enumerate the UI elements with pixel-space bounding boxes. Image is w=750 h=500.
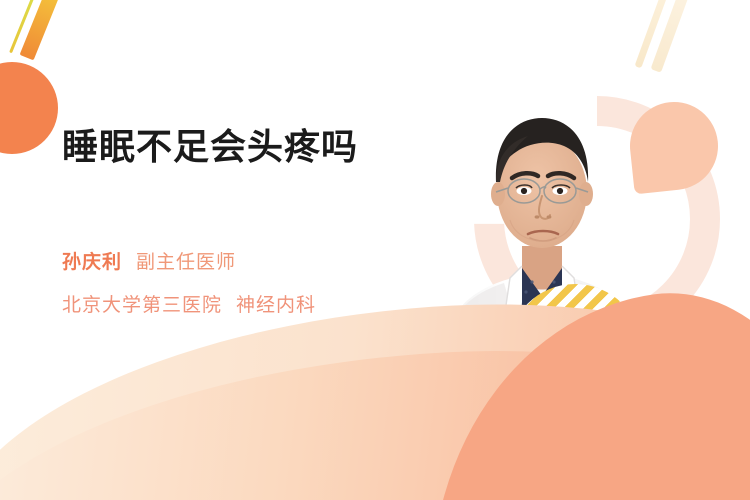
stripe-bottom-left-icon bbox=[150, 362, 172, 409]
doctor-portrait bbox=[438, 96, 653, 386]
doctor-affiliation-line: 北京大学第三医院神经内科 bbox=[62, 290, 316, 317]
orange-circle-icon bbox=[0, 62, 58, 154]
hospital-name: 北京大学第三医院 bbox=[62, 295, 222, 316]
doctor-credentials-line: 孙庆利副主任医师 bbox=[62, 247, 236, 274]
doctor-name: 孙庆利 bbox=[62, 252, 122, 273]
stripe-top-right-a-icon bbox=[634, 0, 672, 68]
department-name: 神经内科 bbox=[236, 295, 316, 316]
stripe-top-right-b-icon bbox=[651, 0, 697, 73]
stripe-top-left-thin-icon bbox=[9, 0, 39, 53]
page-title: 睡眠不足会头疼吗 bbox=[62, 118, 358, 170]
doctor-rank: 副主任医师 bbox=[136, 252, 236, 273]
video-thumbnail-card: 睡眠不足会头疼吗 孙庆利副主任医师 北京大学第三医院神经内科 bbox=[0, 0, 750, 500]
stripe-top-left-thick-icon bbox=[20, 0, 67, 60]
